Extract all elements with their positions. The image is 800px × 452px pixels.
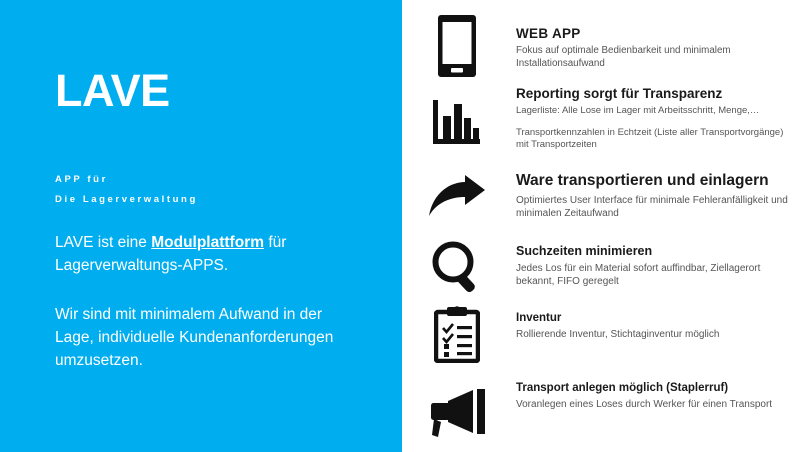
- intro-text-before: LAVE ist eine: [55, 234, 151, 251]
- presentation-slide: LAVE APP für Die Lagerverwaltung LAVE is…: [0, 0, 800, 452]
- feature-title: Suchzeiten minimieren: [516, 244, 798, 258]
- feature-item-web-app: WEB APP Fokus auf optimale Bedienbarkeit…: [402, 8, 800, 80]
- subtitle-line-1: APP für: [55, 170, 198, 190]
- pitch-paragraph: Wir sind mit minimalem Aufwand in der La…: [55, 303, 340, 372]
- feature-item-search: Suchzeiten minimieren Jedes Los für ein …: [402, 236, 800, 302]
- feature-text-block: Transport anlegen möglich (Staplerruf) V…: [516, 382, 798, 411]
- feature-description: Voranlegen eines Loses durch Werker für …: [516, 398, 798, 411]
- feature-text-block: WEB APP Fokus auf optimale Bedienbarkeit…: [516, 26, 798, 70]
- feature-title: Ware transportieren und einlagern: [516, 172, 798, 190]
- feature-text-block: Ware transportieren und einlagern Optimi…: [516, 172, 798, 220]
- feature-description: Rollierende Inventur, Stichtaginventur m…: [516, 328, 798, 341]
- feature-title: WEB APP: [516, 26, 798, 41]
- feature-item-reporting: Reporting sorgt für Transparenz Lagerlis…: [402, 84, 800, 162]
- magnifier-icon: [424, 238, 490, 296]
- subtitle-line-2: Die Lagerverwaltung: [55, 190, 198, 210]
- megaphone-icon: [424, 384, 490, 442]
- feature-list: WEB APP Fokus auf optimale Bedienbarkeit…: [402, 0, 800, 452]
- smartphone-icon: [424, 14, 490, 78]
- feature-text-block: Reporting sorgt für Transparenz Lagerlis…: [516, 86, 798, 152]
- subtitle-block: APP für Die Lagerverwaltung: [55, 170, 198, 210]
- feature-text-block: Inventur Rollierende Inventur, Stichtagi…: [516, 312, 798, 341]
- feature-description: Jedes Los für ein Material sofort auffin…: [516, 262, 798, 288]
- feature-description: Fokus auf optimale Bedienbarkeit und min…: [516, 45, 798, 70]
- feature-title: Inventur: [516, 312, 798, 324]
- feature-item-inventory: Inventur Rollierende Inventur, Stichtagi…: [402, 304, 800, 370]
- feature-text-block: Suchzeiten minimieren Jedes Los für ein …: [516, 244, 798, 288]
- feature-description: Optimiertes User Interface für minimale …: [516, 194, 798, 220]
- feature-description-1: Lagerliste: Alle Lose im Lager mit Arbei…: [516, 105, 798, 118]
- intro-emphasis: Modulplattform: [151, 234, 264, 251]
- bar-chart-icon: [424, 96, 490, 150]
- feature-description-2: Transportkennzahlen in Echtzeit (Liste a…: [516, 127, 798, 152]
- left-blue-panel: LAVE APP für Die Lagerverwaltung LAVE is…: [0, 0, 402, 452]
- page-title: LAVE: [55, 68, 170, 113]
- feature-title: Transport anlegen möglich (Staplerruf): [516, 382, 798, 394]
- feature-item-staplerruf: Transport anlegen möglich (Staplerruf) V…: [402, 378, 800, 444]
- feature-item-transport-store: Ware transportieren und einlagern Optimi…: [402, 166, 800, 232]
- feature-title: Reporting sorgt für Transparenz: [516, 86, 798, 101]
- clipboard-checklist-icon: [424, 304, 490, 364]
- curved-arrow-icon: [424, 170, 490, 224]
- intro-paragraph: LAVE ist eine Modulplattform für Lagerve…: [55, 231, 355, 277]
